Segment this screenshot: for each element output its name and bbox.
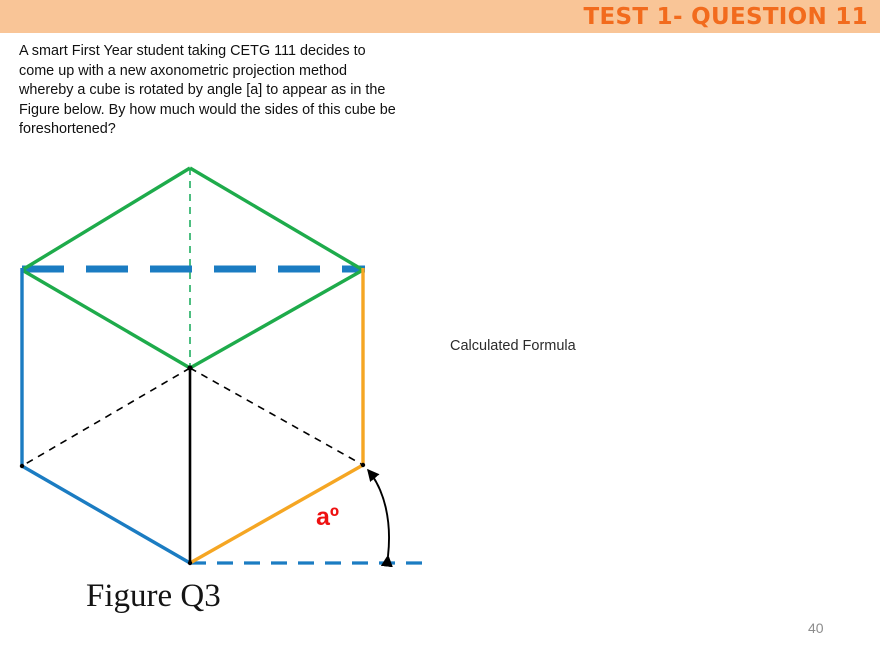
hidden-edges-group	[22, 368, 363, 466]
hidden-edge-center-to-bottom-right	[190, 368, 363, 465]
hidden-edge-center-to-bottom-left	[22, 368, 190, 466]
vertex-dots-group	[20, 365, 365, 565]
angle-label: aº	[316, 505, 339, 530]
calculated-formula-label: Calculated Formula	[450, 338, 576, 354]
vertex-dot-bottom-right	[361, 463, 365, 467]
slide-canvas: TEST 1- QUESTION 11 A smart First Year s…	[0, 0, 880, 660]
edge-bottom-left-to-bottom-blue	[22, 466, 190, 563]
angle-arc-arrow	[368, 470, 389, 556]
vertex-dot-bottom-left	[20, 464, 24, 468]
page-title: TEST 1- QUESTION 11	[584, 4, 869, 30]
vertex-dot-bottom	[188, 561, 192, 565]
edge-top-to-left-green	[22, 168, 190, 270]
edge-right-to-center-green	[190, 270, 363, 368]
vertex-dot-center	[187, 365, 192, 370]
figure-caption: Figure Q3	[86, 578, 221, 614]
edge-top-to-right-green	[190, 168, 363, 270]
left-face-edges-blue	[22, 268, 190, 563]
edge-left-to-center-green	[22, 270, 190, 368]
page-number: 40	[808, 620, 824, 636]
top-face-edges-green	[22, 168, 363, 368]
question-text: A smart First Year student taking CETG 1…	[19, 42, 439, 140]
